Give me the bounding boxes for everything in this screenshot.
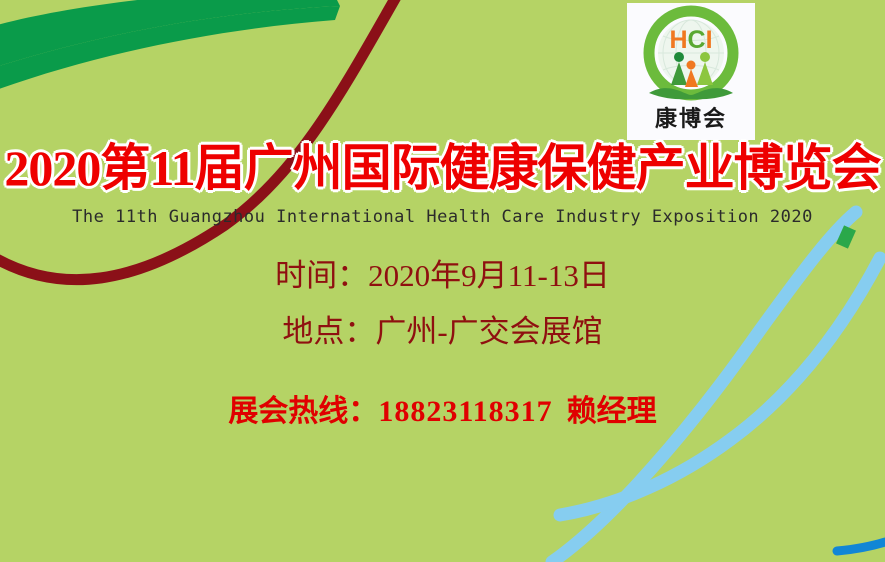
hotline-label: 展会热线： (228, 395, 378, 428)
blue-curve-green-accent-icon (842, 228, 850, 246)
hci-logo: HCI 康博会 (627, 3, 755, 140)
banner-title-sub: The 11th Guangzhou International Health … (0, 206, 885, 228)
logo-acronym-text: HCI (669, 26, 712, 54)
logo-figure-right-head-icon (700, 52, 710, 62)
banner-title-main: 2020第11届广州国际健康保健产业博览会 (0, 139, 885, 197)
logo-figure-center-head-icon (687, 61, 696, 70)
hotline-number[interactable]: 18823118317 (378, 395, 552, 428)
logo-wordmark-text: 康博会 (655, 106, 727, 131)
hotline-row: 展会热线：18823118317赖经理 (0, 392, 885, 432)
exhibition-banner: HCI 康博会 2020第11届广州国际健康保健产业博览会 The 11th G… (0, 0, 885, 562)
event-venue-line: 地点：广州-广交会展馆 (0, 312, 885, 352)
hci-logo-graphic: HCI 康博会 (627, 3, 755, 140)
event-date-line: 时间：2020年9月11-13日 (0, 256, 885, 296)
hotline-contact: 赖经理 (567, 395, 657, 428)
logo-figure-left-head-icon (674, 52, 684, 62)
